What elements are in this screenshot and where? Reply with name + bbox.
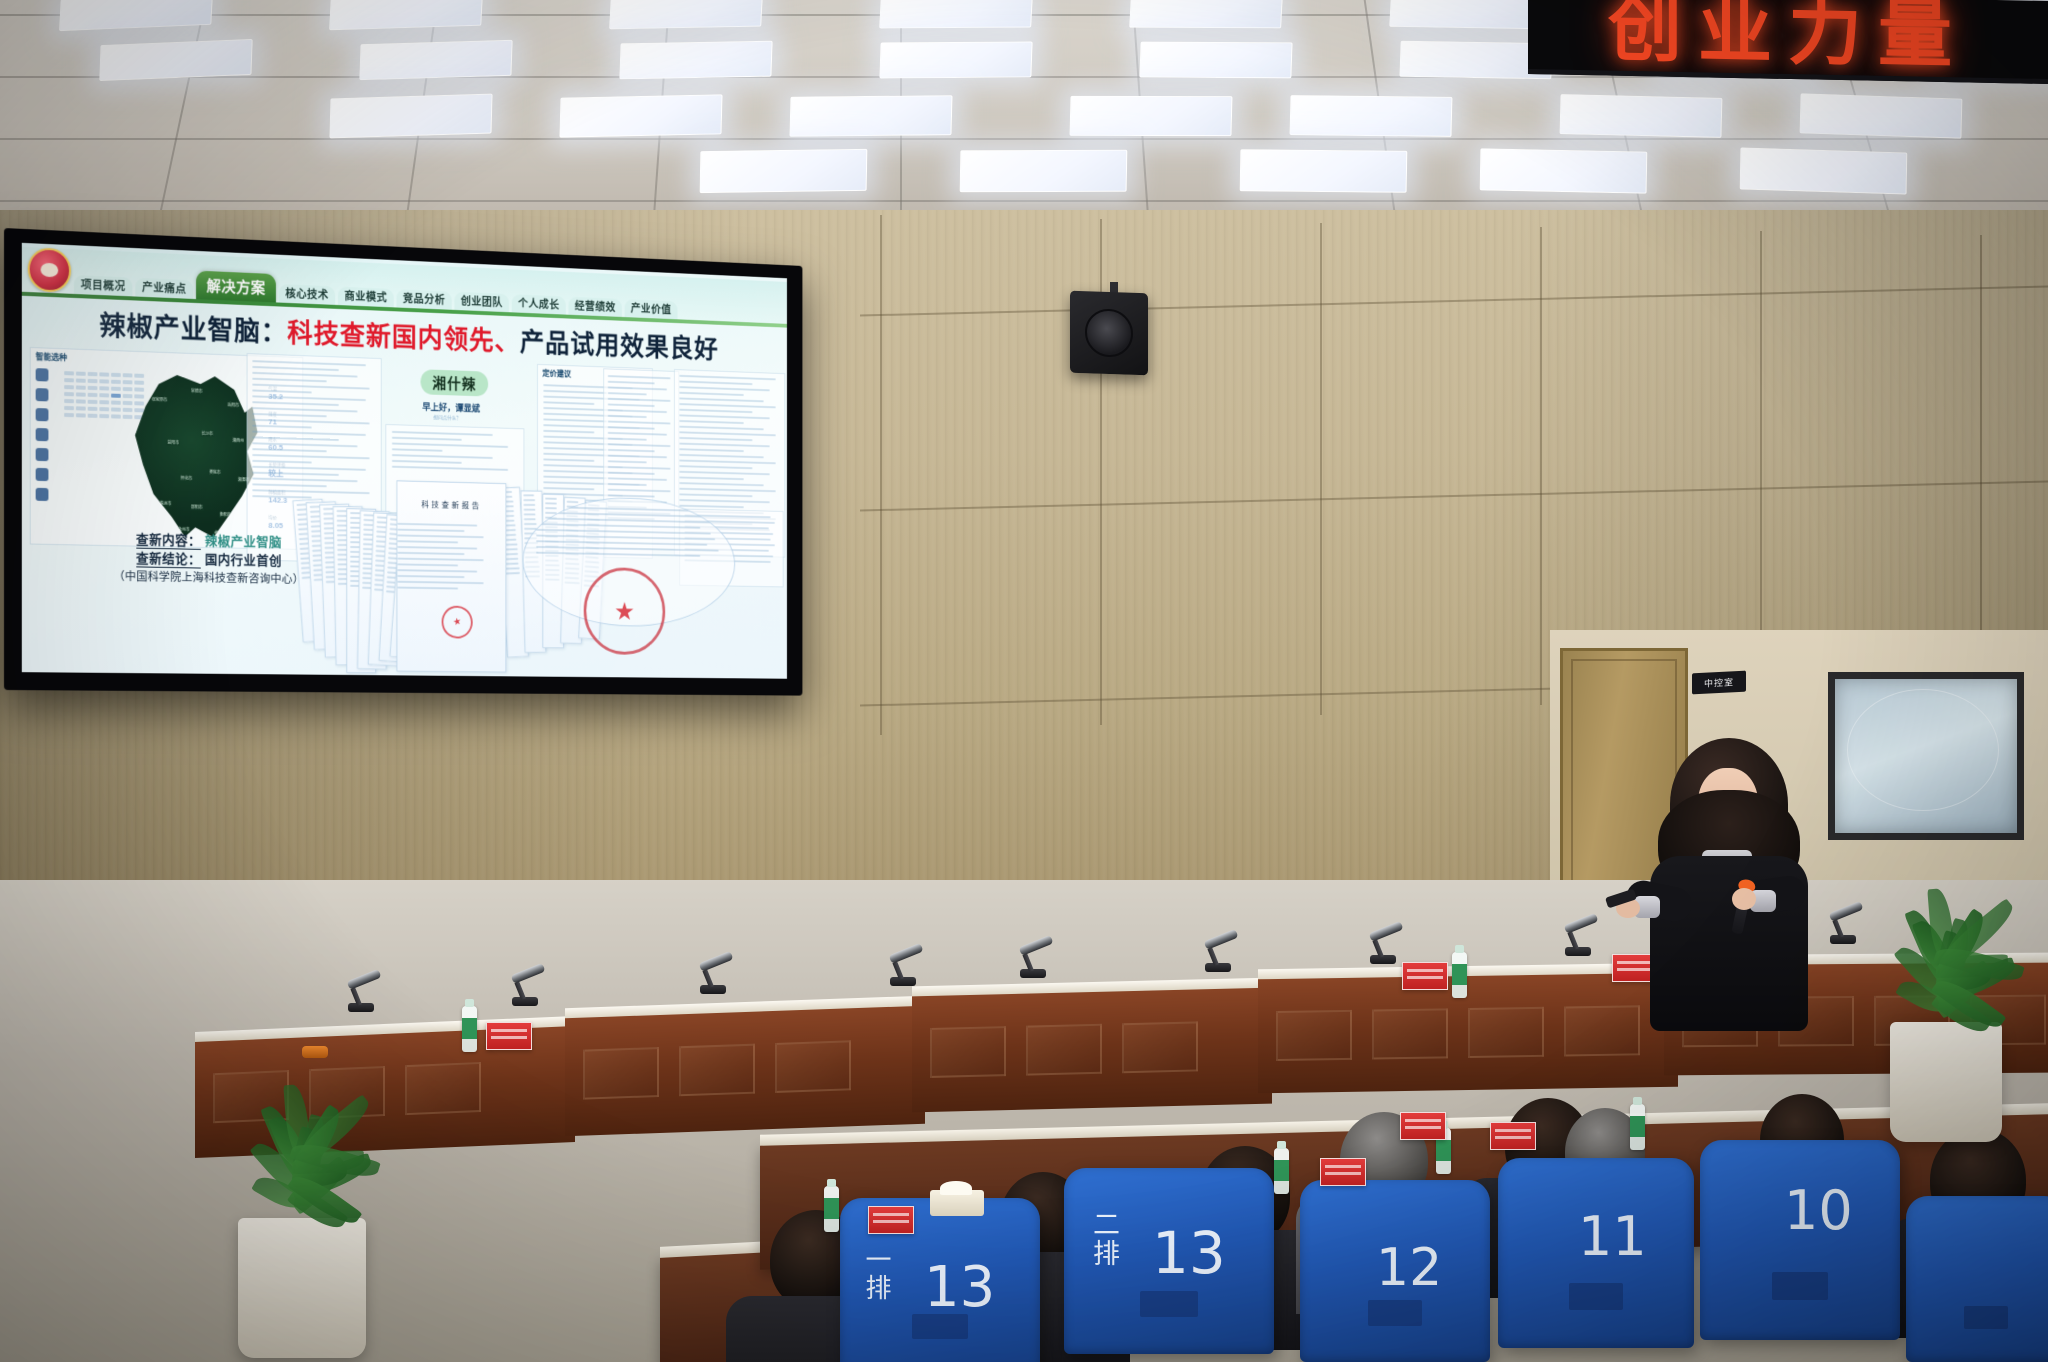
desk-microphone-icon [1830,904,1870,944]
placeholder-text-line [679,414,770,419]
placeholder-text-line [524,504,536,506]
map-region-label: 邵阳市 [190,505,203,511]
desk-microphone-icon [348,972,388,1012]
placeholder-text-line [252,489,370,494]
chair-seat-number: 13 [924,1260,995,1316]
placeholder-text-line [567,501,578,504]
placeholder-text-line [397,581,484,584]
placeholder-text-line [608,455,667,459]
placard-line [1325,1165,1361,1168]
map-region-label: 岳阳市 [227,403,240,409]
ceiling-light-panel [1290,95,1453,137]
placeholder-text-line [252,436,339,441]
placeholder-text-line [397,569,477,572]
placeholder-text-line [252,395,366,401]
chair-seat-number: 10 [1784,1184,1853,1238]
table-panel-diamond [1468,1007,1544,1058]
slide-tab-2[interactable]: 解决方案 [196,271,276,304]
placeholder-text-line [523,499,534,501]
placeholder-text-line [545,507,557,509]
ai-greeting-sub: 想问点什么？ [433,414,460,422]
placeholder-text-line [608,449,655,452]
placeholder-text-line [543,390,606,394]
led-display-wall: 项目概况产业痛点解决方案核心技术商业模式竞品分析创业团队个人成长经营绩效产业价值… [4,228,802,696]
placeholder-text-line [608,438,647,441]
red-name-placard [1320,1158,1366,1186]
chair-pocket-tag [1964,1306,2009,1329]
slide-dashboard-mock: 智能选种 张家界市常德市岳阳市益阳市长沙市湘西州怀化市娄底市湘潭市株洲市邵阳市衡… [22,343,787,679]
map-region-label: 株洲市 [159,501,172,507]
placeholder-text-line [679,392,744,396]
desk-microphone-icon [512,966,552,1006]
placeholder-text-line [392,448,443,451]
table-panel-diamond [405,1062,481,1115]
slide-title-lead: 辣椒产业智脑： [99,311,287,348]
table-panel-diamond [1372,1008,1448,1059]
cloud-icon[interactable] [36,408,49,421]
hunan-province-map: 张家界市常德市岳阳市益阳市长沙市湘西州怀化市娄底市湘潭市株洲市邵阳市衡阳市永州市… [132,374,262,539]
placeholder-text-line [608,489,671,493]
desk-microphone-icon [1205,932,1245,972]
placeholder-text-line [608,472,655,475]
ceiling-light-panel [99,39,252,81]
placard-line [1407,969,1443,972]
led-banner: 创业力量 [1528,0,2048,84]
ceiling-light-panel [879,42,1032,79]
placeholder-text-line [252,407,357,412]
ceiling-light-panel [1240,149,1408,193]
tissue-box [930,1190,984,1216]
map-region-label: 张家界市 [151,397,168,403]
placeholder-text-line [679,403,776,408]
ceiling-light-panel [329,0,483,30]
placeholder-text-line [608,404,655,407]
placeholder-text-line [252,495,312,498]
mic-head [699,951,734,972]
mic-head [1204,929,1239,950]
placeholder-text-line [536,512,707,518]
placeholder-text-line [608,443,671,447]
caption-line-1-value: 辣椒产业智脑 [205,533,282,549]
ceiling-light-panel [1480,148,1648,193]
placeholder-text-line [679,482,764,486]
red-name-placard [1400,1112,1446,1140]
chair-pocket-tag [1140,1291,1199,1317]
chair-seat-number: 11 [1578,1210,1647,1264]
placeholder-text-line [543,487,594,490]
water-bottle [1274,1148,1289,1194]
mic-head [347,969,382,990]
audience-chair[interactable]: 12 [1300,1180,1490,1362]
red-name-placard [1402,962,1448,990]
brand-logo-pill: 湘什辣 [420,369,488,396]
ceiling-light-panel [1560,94,1723,138]
placeholder-text-line [252,425,312,429]
ceiling-light-panel [1129,0,1283,28]
caption-line-1-key: 查新内容： [136,532,201,550]
placeholder-text-line [679,426,764,431]
placeholder-text-line [536,540,707,545]
table-panel-diamond [930,1026,1006,1078]
placeholder-text-line [679,488,776,492]
stage-table-segment [912,986,1272,1113]
placeholder-text-line [679,465,752,469]
placeholder-text-line [524,513,536,515]
placeholder-text-line [504,553,518,555]
ceiling-light-panel [960,150,1128,192]
presenter-hand-right [1732,888,1756,910]
desk-microphone-icon [1565,916,1605,956]
water-bottle [1630,1104,1645,1150]
map-region-label: 湘西州 [232,438,245,444]
placeholder-text-line [392,431,493,436]
table-panel-diamond [1026,1024,1102,1076]
table-panel-diamond [775,1040,851,1093]
placeholder-text-line [679,471,770,475]
stage-table-segment [1258,971,1678,1094]
water-bottle [1452,952,1467,998]
placeholder-text-line [397,534,484,538]
plant-pot [1890,1022,2002,1142]
brand-mark-text: 湘什辣 [432,372,476,394]
placeholder-text-line [608,421,671,425]
orange-marker [302,1046,328,1058]
placeholder-text-line [397,575,464,578]
table-panel-diamond [1276,1010,1352,1061]
ceiling-light-panel [609,0,763,29]
placeholder-text-line [679,493,752,497]
placeholder-text-line [252,448,327,452]
placeholder-text-line [679,386,770,391]
ceiling-light-panel [1139,42,1292,79]
placeholder-text-line [397,529,464,532]
placeholder-text-line [397,523,477,527]
red-name-placard [486,1022,532,1050]
thermometer-icon[interactable] [36,388,49,401]
placard-line [1405,1119,1441,1122]
placeholder-text-line [252,460,312,464]
placeholder-text-line [252,372,357,378]
audience-chair[interactable]: 13二排 [1064,1168,1274,1354]
map-region-label: 衡阳市 [219,512,232,518]
placeholder-text-line [545,498,556,500]
placeholder-text-line [252,454,370,459]
chair-pocket-tag [912,1314,968,1339]
big-seal-star-icon: ★ [614,596,635,626]
placeholder-text-line [252,483,327,487]
table-panel-diamond [679,1044,755,1097]
placeholder-text-line [392,466,508,471]
placeholder-text-line [679,476,744,480]
map-region-label: 长沙市 [201,431,214,437]
placeholder-text-line [608,432,667,436]
placeholder-text-line [397,540,458,543]
presentation-slide: 项目概况产业痛点解决方案核心技术商业模式竞品分析创业团队个人成长经营绩效产业价值… [22,243,787,679]
placeholder-text-line [608,409,667,413]
placeholder-text-line [679,460,776,465]
placeholder-text-line [536,535,715,541]
placeholder-text-line [679,499,770,503]
placeholder-text-line [543,458,594,461]
ceiling-light-panel [1800,93,1963,138]
placeholder-text-line [524,518,536,520]
red-seal-icon: ★ [439,603,476,641]
chili-mascot-logo-icon [28,247,71,293]
chair-row-label: 一排 [864,1246,890,1302]
red-name-placard [868,1206,914,1234]
placeholder-text-line [608,386,667,390]
placeholder-text-line [608,483,647,486]
mic-head [1829,901,1864,922]
placeholder-text-line [679,448,744,452]
placeholder-text-line [252,466,366,471]
placeholder-text-line [523,494,534,496]
placeholder-text-line [252,419,370,425]
table-panel-diamond [583,1047,659,1100]
placard-line [1325,1172,1361,1175]
placeholder-text-line [536,552,700,557]
conference-hall-photo: 创业力量 项目概况产业痛点解决方案核心技术商业模式竞品分析创业团队个人成长经营绩… [0,0,2048,1362]
desk-microphone-icon [890,946,930,986]
speaker-cone-icon [1085,308,1133,358]
window-reflection [1847,689,1999,811]
placard-line [491,1036,527,1039]
red-name-placard [1490,1122,1536,1150]
mic-head [1564,913,1599,934]
water-bottle [824,1186,839,1232]
map-region-label: 怀化市 [180,475,193,481]
mic-head [1369,921,1404,942]
placeholder-text-line [392,460,462,464]
placeholder-text-line [392,454,493,459]
humidity-icon[interactable] [36,428,49,441]
door-sign-text: 中控室 [1704,675,1734,690]
placeholder-text-line [679,443,770,448]
slide-title-tail: 产品试用效果良好 [520,328,719,364]
plant-pot [238,1218,366,1358]
novelty-search-report-doc: 科技查新报告 ★ [396,480,506,672]
placeholder-text-line [679,420,744,424]
map-region-label: 常德市 [190,388,203,394]
placard-line [1495,1129,1531,1132]
ceiling-light-panel [789,95,952,137]
placeholder-text-line [679,454,764,458]
water-bottle [462,1006,477,1052]
mic-head [511,963,546,984]
soil-icon[interactable] [36,448,49,461]
placeholder-text-line [608,426,655,429]
placeholder-text-line [505,567,519,569]
chair-seat-number: 12 [1376,1242,1442,1294]
wall-speaker-icon [1070,291,1148,376]
placeholder-text-line [608,381,655,385]
placeholder-text-line [505,558,519,560]
placard-line [873,1213,909,1216]
pest-icon[interactable] [36,488,49,501]
ai-greeting: 早上好，谭显斌 [422,400,480,414]
ceiling-light-panel [1069,96,1232,136]
report-doc-title: 科技查新报告 [397,499,505,512]
slide-title-highlight: 科技查新国内领先、 [287,319,520,357]
placeholder-text-line [608,466,671,470]
placeholder-text-line [252,360,366,366]
placeholder-text-line [543,430,594,433]
placeholder-text-line [679,505,744,508]
ceiling-light-panel [329,94,492,139]
table-panel-diamond [1122,1021,1198,1073]
desk-microphone-icon [700,954,740,994]
placeholder-text-line [252,472,339,476]
ceiling-light-panel [879,0,1033,28]
placeholder-text-line [543,418,606,422]
placeholder-text-line [252,366,339,371]
map-region-label: 益阳市 [167,439,180,445]
calendar-icon[interactable] [36,368,49,381]
placeholder-text-line [543,401,594,405]
placard-line [491,1029,527,1032]
ceiling-light-panel [1389,0,1543,29]
placeholder-text-line [252,389,312,393]
chair-pocket-tag [1772,1272,1828,1300]
placeholder-text-line [608,477,667,480]
presenter [1640,738,1816,1028]
placeholder-text-line [536,523,700,529]
placeholder-text-line [545,502,556,504]
placeholder-text-line [397,587,458,590]
big-red-seal-icon: ★ [584,567,666,655]
placeholder-text-line [252,431,366,436]
placeholder-text-line [679,397,764,402]
placeholder-text-line [505,572,519,574]
placeholder-text-line [536,517,718,523]
caption-line-2-key: 查新结论： [136,550,201,568]
chair-seat-number: 13 [1152,1224,1226,1282]
seal-star-icon: ★ [452,616,462,628]
placeholder-text-line [536,546,718,552]
slide-caption: 查新内容： 辣椒产业智脑 查新结论： 国内行业首创 （中国科学院上海科技查新咨询… [49,529,365,588]
chair-row-label: 二排 [1090,1210,1117,1268]
audience-chair[interactable] [1906,1196,2048,1362]
ceiling-light-panel [359,40,512,80]
chair-pocket-tag [1569,1283,1624,1310]
rain-icon[interactable] [36,468,49,481]
placard-line [873,1220,909,1223]
caption-line-2-value: 国内行业首创 [205,552,282,568]
table-panel-diamond [1564,1005,1640,1056]
placeholder-text-line [252,478,357,483]
door-sign: 中控室 [1692,671,1746,695]
stage-table-segment [565,1004,925,1137]
placeholder-text-line [524,523,536,525]
placeholder-text-line [608,415,647,418]
control-room-window [1828,672,2024,840]
placeholder-text-line [392,437,462,441]
placeholder-text-line [524,509,536,511]
mic-head [1019,935,1054,956]
placeholder-text-line [252,413,327,417]
placeholder-text-line [608,375,671,379]
placeholder-text-line [252,378,327,383]
audience-chair[interactable]: 11 [1498,1158,1694,1348]
ceiling-light-panel [619,41,772,80]
audience-chair[interactable]: 10 [1700,1140,1900,1340]
placeholder-text-line [505,562,519,564]
placeholder-text-line [608,460,647,463]
led-banner-text: 创业力量 [1608,0,1968,82]
placeholder-text-line [397,558,484,562]
placeholder-text-line [608,392,647,395]
ceiling-light-panel [559,94,722,137]
placeholder-text-line [679,431,776,436]
placard-line [1407,976,1443,979]
desk-microphone-icon [1020,938,1060,978]
placeholder-text-line [252,442,357,447]
placeholder-text-line [536,529,711,535]
placeholder-text-line [543,447,606,451]
placard-line [1405,1126,1441,1129]
placeholder-text-line [679,437,752,441]
placeholder-text-line [397,546,477,550]
ceiling-light-panel [700,149,868,193]
placeholder-text-line [397,563,458,566]
map-region-label: 娄底市 [208,470,221,476]
placeholder-text-line [397,552,464,555]
placeholder-text-line [608,398,671,402]
placeholder-text-line [679,375,776,380]
placeholder-text-line [543,476,606,480]
desk-microphone-icon [1370,924,1410,964]
placeholder-text-line [679,381,752,386]
chair-pocket-tag [1368,1300,1421,1325]
ceiling-light-panel [1740,147,1908,194]
placeholder-text-line [252,401,339,406]
placeholder-text-line [679,409,752,413]
mic-head [889,943,924,964]
placeholder-text-line [252,384,370,390]
placard-line [1495,1136,1531,1139]
placeholder-text-line [392,443,508,448]
